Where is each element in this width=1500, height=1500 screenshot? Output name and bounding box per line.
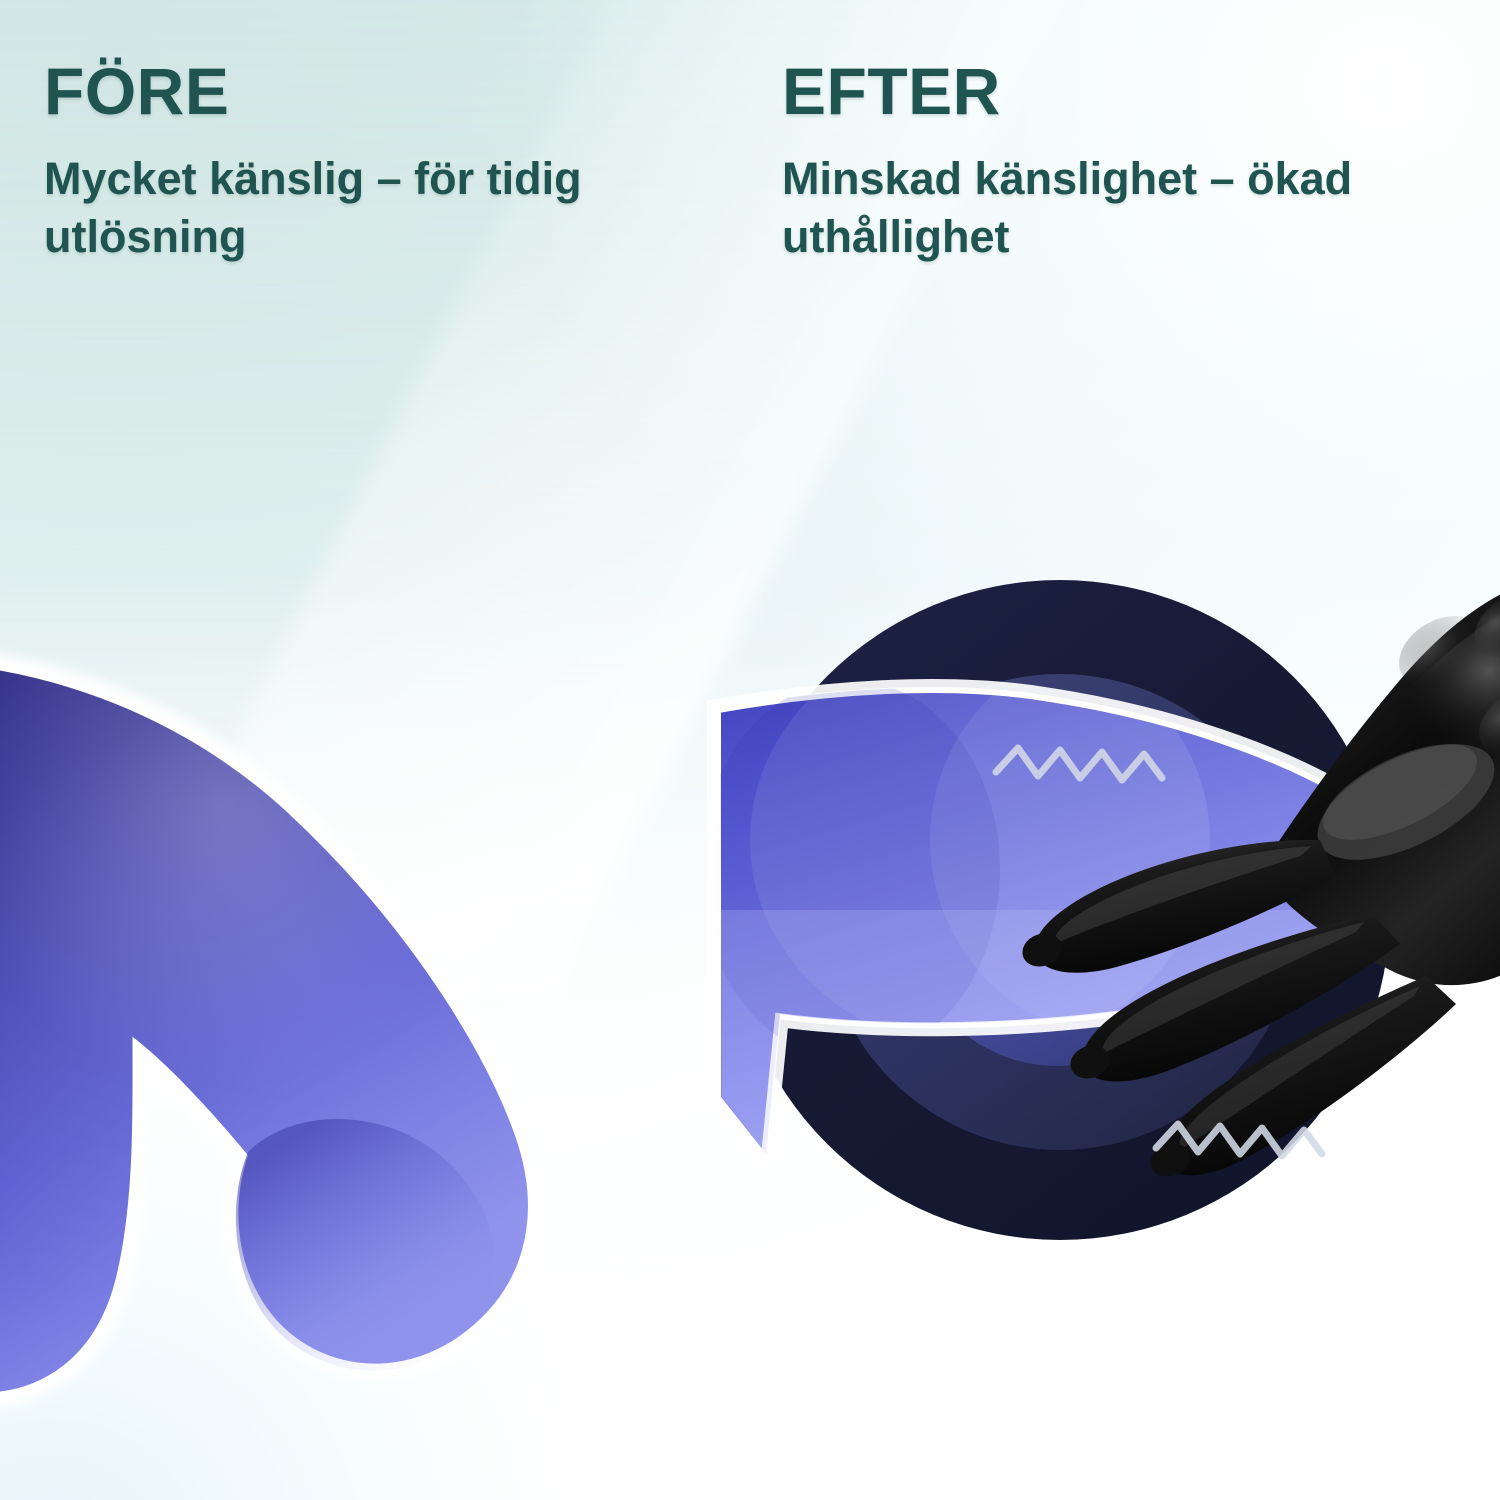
before-kicker: FÖRE (44, 58, 644, 124)
after-illustration (700, 540, 1500, 1350)
comparison-graphic: FÖRE Mycket känslig – för tidig utlösnin… (0, 0, 1500, 1500)
before-illustration (0, 640, 750, 1440)
before-subtitle: Mycket känslig – för tidig utlösning (44, 150, 644, 265)
after-subtitle: Minskad känslighet – ökad uthållighet (782, 150, 1432, 265)
before-column: FÖRE Mycket känslig – för tidig utlösnin… (44, 58, 644, 265)
after-column: EFTER Minskad känslighet – ökad uthållig… (782, 58, 1432, 265)
after-kicker: EFTER (782, 58, 1432, 124)
